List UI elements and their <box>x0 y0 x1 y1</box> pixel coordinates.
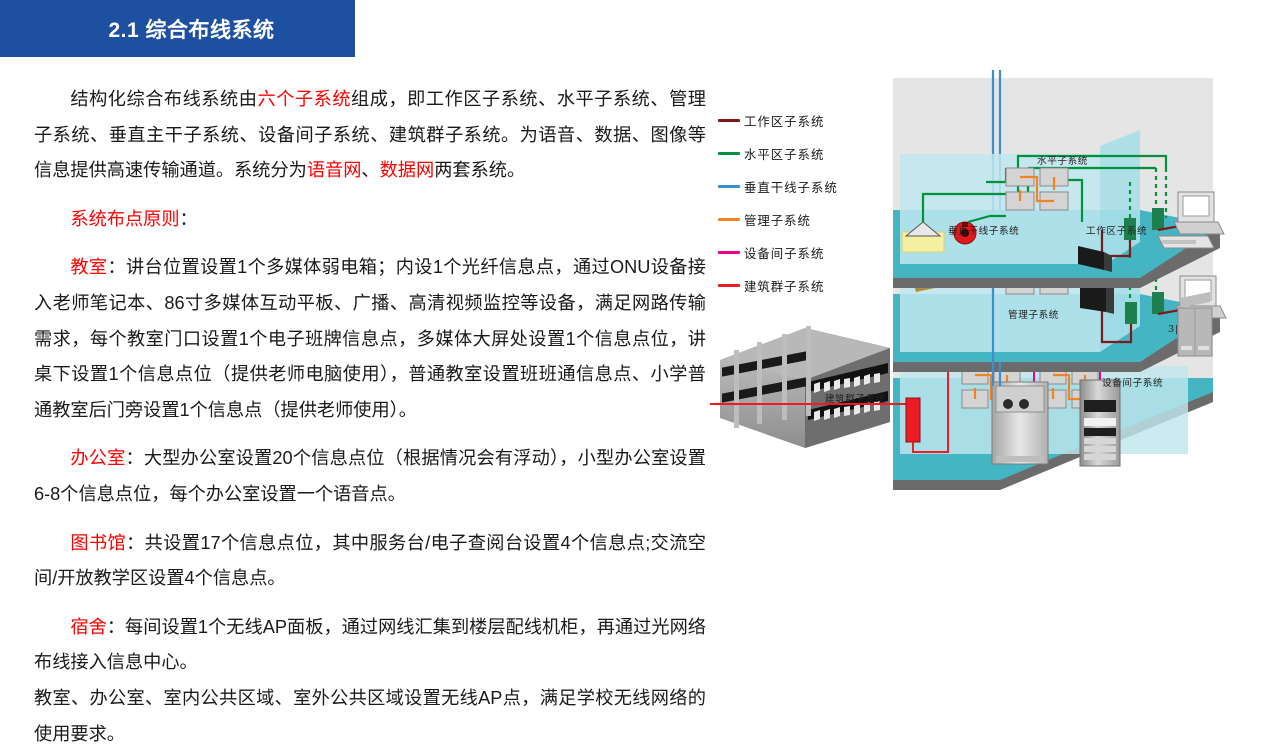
slide: 2.1 综合布线系统 结构化综合布线系统由六个子系统组成，即工作区子系统、水平子… <box>0 0 1280 720</box>
diagram-label-horizontal: 水平子系统 <box>1037 155 1088 167</box>
intro-highlight-subsystems: 六个子系统 <box>257 89 351 109</box>
server-rack-left <box>992 382 1048 464</box>
intro-text-3: 、 <box>361 160 379 180</box>
principles-colon: ： <box>180 209 198 229</box>
paragraph-principles-heading: 系统布点原则： <box>34 202 706 238</box>
intro-highlight-data-net: 数据网 <box>380 160 435 180</box>
cabling-system-diagram: 建筑群子系统 设备间子系统 <box>710 70 1280 510</box>
classroom-label: 教室 <box>70 257 107 277</box>
paragraph-classroom: 教室：讲台位置设置1个多媒体弱电箱；内设1个光纤信息点，通过ONU设备接入老师笔… <box>34 250 706 428</box>
classroom-text: ：讲台位置设置1个多媒体弱电箱；内设1个光纤信息点，通过ONU设备接入老师笔记本… <box>34 257 706 419</box>
campus-building-illustration <box>720 326 890 448</box>
campus-entry-box <box>906 398 920 442</box>
diagram-label-equipment-room: 设备间子系统 <box>1102 377 1163 389</box>
office-label: 办公室 <box>70 448 125 468</box>
dormitory-label: 宿舍 <box>70 617 106 637</box>
server-rack-right <box>1080 380 1120 466</box>
intro-text-1: 结构化综合布线系统由 <box>70 89 257 109</box>
page-title: 2.1 综合布线系统 <box>0 0 355 57</box>
intro-text-4: 两套系统。 <box>434 160 525 180</box>
diagram-label-work-area: 工作区子系统 <box>1086 225 1147 237</box>
library-label: 图书馆 <box>70 533 126 553</box>
paragraph-library: 图书馆：共设置17个信息点位，其中服务台/电子查阅台设置4个信息点;交流空间/开… <box>34 526 706 597</box>
faceplate-mid-2 <box>1152 292 1164 314</box>
cabinet-tiny-label: 3| <box>1168 324 1179 335</box>
paragraph-wireless-ap: 教室、办公室、室内公共区域、室外公共区域设置无线AP点，满足学校无线网络的使用要… <box>34 681 706 752</box>
office-text: ：大型办公室设置20个信息点位（根据情况会有浮动），小型办公室设置6-8个信息点… <box>34 448 706 504</box>
faceplate-top-2 <box>1152 208 1164 230</box>
paragraph-intro: 结构化综合布线系统由六个子系统组成，即工作区子系统、水平子系统、管理子系统、垂直… <box>34 82 706 189</box>
body-text: 结构化综合布线系统由六个子系统组成，即工作区子系统、水平子系统、管理子系统、垂直… <box>34 82 706 752</box>
faceplate-mid-1 <box>1125 302 1137 324</box>
library-text: ：共设置17个信息点位，其中服务台/电子查阅台设置4个信息点;交流空间/开放教学… <box>34 533 706 589</box>
diagram-label-campus: 建筑群子系统 <box>825 393 886 405</box>
dormitory-text: ：每间设置1个无线AP面板，通过网线汇集到楼层配线机柜，再通过光网络布线接入信息… <box>34 617 706 673</box>
wireless-ap-text: 教室、办公室、室内公共区域、室外公共区域设置无线AP点，满足学校无线网络的使用要… <box>34 688 706 744</box>
diagram-label-vertical: 垂直干线子系统 <box>948 225 1019 237</box>
paragraph-office: 办公室：大型办公室设置20个信息点位（根据情况会有浮动），小型办公室设置6-8个… <box>34 441 706 512</box>
paragraph-dormitory: 宿舍：每间设置1个无线AP面板，通过网线汇集到楼层配线机柜，再通过光网络布线接入… <box>34 610 706 681</box>
principles-label: 系统布点原则 <box>70 209 179 229</box>
intro-highlight-voice-net: 语音网 <box>307 160 362 180</box>
diagram-label-management: 管理子系统 <box>1008 309 1059 321</box>
